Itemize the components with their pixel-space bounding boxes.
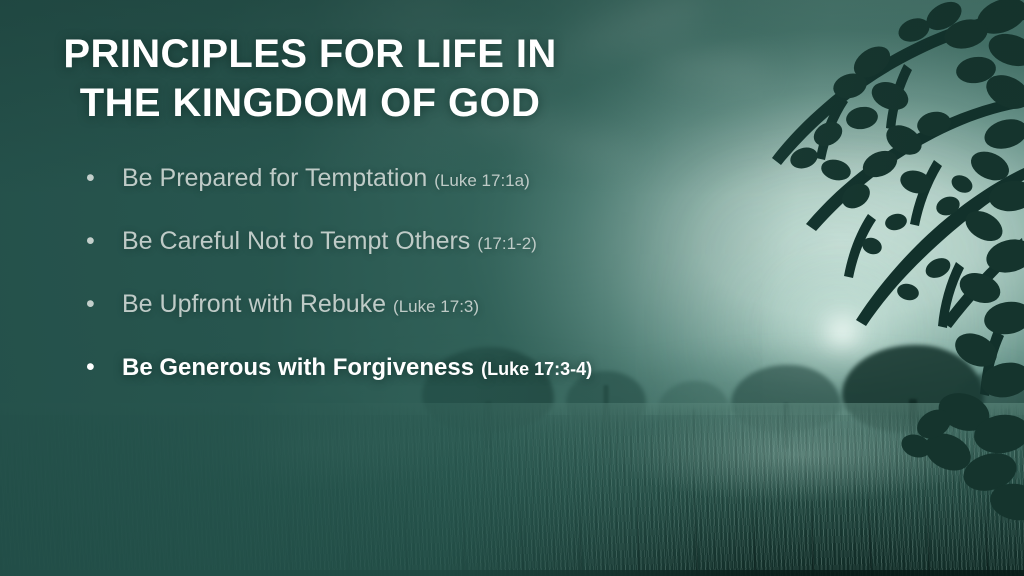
bullet-text: Be Generous with Forgiveness <box>122 356 474 380</box>
bullet-item-2: • Be Careful Not to Tempt Others (17:1-2… <box>86 229 686 292</box>
presentation-slide: PRINCIPLES FOR LIFE IN THE KINGDOM OF GO… <box>0 0 1024 576</box>
bullet-item-3: • Be Upfront with Rebuke (Luke 17:3) <box>86 292 686 355</box>
bullet-citation: (Luke 17:1a) <box>434 172 529 189</box>
slide-content: PRINCIPLES FOR LIFE IN THE KINGDOM OF GO… <box>0 0 1024 576</box>
bullet-text: Be Careful Not to Tempt Others <box>122 229 470 254</box>
bullet-citation: (Luke 17:3-4) <box>481 360 592 378</box>
bullet-citation: (Luke 17:3) <box>393 298 479 315</box>
bullet-marker-icon: • <box>86 292 122 317</box>
slide-title: PRINCIPLES FOR LIFE IN THE KINGDOM OF GO… <box>0 30 620 128</box>
bullet-text: Be Upfront with Rebuke <box>122 292 386 317</box>
bullet-item-4-active: • Be Generous with Forgiveness (Luke 17:… <box>86 355 686 418</box>
bullet-marker-icon: • <box>86 166 122 191</box>
bullet-list: • Be Prepared for Temptation (Luke 17:1a… <box>86 166 686 418</box>
bullet-item-1: • Be Prepared for Temptation (Luke 17:1a… <box>86 166 686 229</box>
bullet-citation: (17:1-2) <box>477 235 537 252</box>
bullet-marker-icon: • <box>86 355 122 380</box>
bullet-text: Be Prepared for Temptation <box>122 166 427 191</box>
bullet-marker-icon: • <box>86 229 122 254</box>
